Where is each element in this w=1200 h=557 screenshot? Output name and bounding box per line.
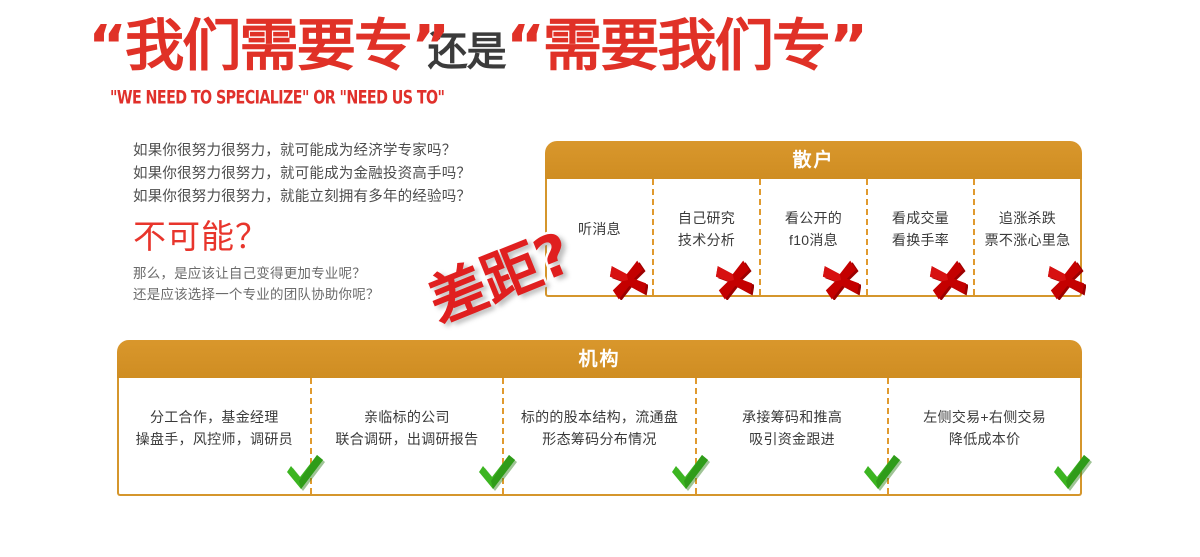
- retail-cell-line: 技术分析: [678, 229, 735, 251]
- institution-panel-title: 机构: [117, 340, 1082, 378]
- institution-cell: 承接筹码和推高 吸引资金跟进: [695, 378, 888, 494]
- question-line: 如果你很努力很努力，就可能成为金融投资高手吗？: [133, 163, 533, 186]
- retail-cell-line: 票不涨心里急: [985, 229, 1071, 251]
- institution-cell-line: 形态筹码分布情况: [521, 428, 678, 450]
- institution-cell: 左侧交易+右侧交易 降低成本价: [887, 378, 1080, 494]
- retail-investor-panel: 散户 听消息 自己研究 技术分析 看公开的 f10消息 看成交量 看换手率 追涨…: [545, 141, 1082, 297]
- title-part-2: “需要我们专”: [506, 18, 866, 76]
- institution-cell: 分工合作，基金经理 操盘手，风控师，调研员: [119, 378, 310, 494]
- retail-cell-line: 追涨杀跌: [985, 207, 1071, 229]
- institution-cell: 标的的股本结构，流通盘 形态筹码分布情况: [502, 378, 695, 494]
- retail-cell: 追涨杀跌 票不涨心里急: [973, 179, 1080, 295]
- institution-cell-line: 吸引资金跟进: [742, 428, 842, 450]
- institution-cell-line: 联合调研，出调研报告: [335, 428, 478, 450]
- title-part-1: “我们需要专”: [88, 18, 448, 76]
- page-title: “我们需要专”还是“需要我们专”: [88, 18, 888, 80]
- poster-canvas: “我们需要专”还是“需要我们专” "WE NEED TO SPECIALIZE"…: [0, 0, 1200, 557]
- page-subtitle: "WE NEED TO SPECIALIZE" OR "NEED US TO": [110, 86, 444, 109]
- retail-cell: 看公开的 f10消息: [759, 179, 866, 295]
- question-line: 如果你很努力很努力，就能立刻拥有多年的经验吗？: [133, 186, 533, 209]
- retail-cell-line: f10消息: [785, 229, 842, 251]
- institution-cell: 亲临标的公司 联合调研，出调研报告: [310, 378, 503, 494]
- retail-cell-line: 看公开的: [785, 207, 842, 229]
- retail-cell-line: 自己研究: [678, 207, 735, 229]
- question-line: 如果你很努力很努力，就可能成为经济学专家吗？: [133, 140, 533, 163]
- retail-cell: 看成交量 看换手率: [866, 179, 973, 295]
- institution-panel: 机构 分工合作，基金经理 操盘手，风控师，调研员 亲临标的公司 联合调研，出调研…: [117, 340, 1082, 496]
- retail-panel-body: 听消息 自己研究 技术分析 看公开的 f10消息 看成交量 看换手率 追涨杀跌 …: [545, 179, 1082, 297]
- retail-cell: 自己研究 技术分析: [652, 179, 759, 295]
- institution-cell-line: 左侧交易+右侧交易: [923, 406, 1046, 428]
- institution-panel-body: 分工合作，基金经理 操盘手，风控师，调研员 亲临标的公司 联合调研，出调研报告 …: [117, 378, 1082, 496]
- institution-cell-line: 分工合作，基金经理: [136, 406, 293, 428]
- institution-cell-line: 操盘手，风控师，调研员: [136, 428, 293, 450]
- retail-cell-line: 看换手率: [892, 229, 949, 251]
- retail-cell-line: 听消息: [578, 218, 621, 240]
- institution-cell-line: 标的的股本结构，流通盘: [521, 406, 678, 428]
- institution-cell-line: 降低成本价: [923, 428, 1046, 450]
- institution-cell-line: 亲临标的公司: [335, 406, 478, 428]
- retail-panel-title: 散户: [545, 141, 1082, 179]
- retail-cell-line: 看成交量: [892, 207, 949, 229]
- institution-cell-line: 承接筹码和推高: [742, 406, 842, 428]
